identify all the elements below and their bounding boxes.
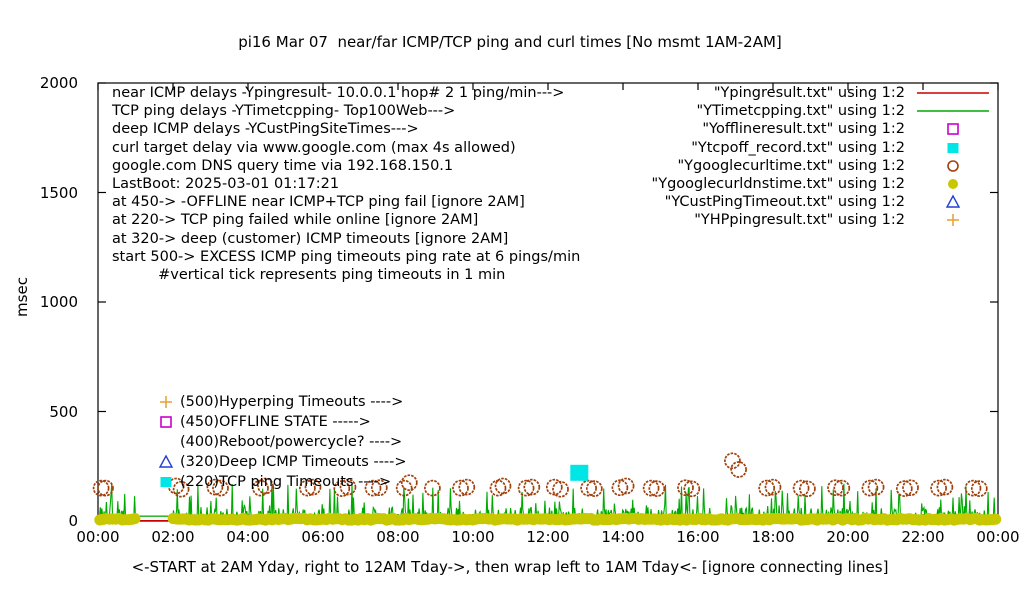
x-axis-caption: <-START at 2AM Yday, right to 12AM Tday-… (0, 558, 1020, 576)
tcp-timeout-marker (570, 465, 588, 481)
annotation-line: TCP ping delays -YTimetcpping- Top100Web… (112, 102, 580, 120)
annotation-line: at 320-> deep (customer) ICMP timeouts [… (112, 230, 580, 248)
inplot-symbol-open-square (155, 412, 177, 432)
annotation-notes: near ICMP delays -Ypingresult- 10.0.0.1 … (112, 84, 580, 284)
curl-time-point (581, 481, 596, 496)
legend-symbol-filled-circle (915, 175, 995, 193)
legend-labels: "Ypingresult.txt" using 1:2"YTimetcpping… (575, 84, 905, 230)
chart-page: pi16 Mar 07 near/far ICMP/TCP ping and c… (0, 0, 1020, 600)
annotation-line: near ICMP delays -Ypingresult- 10.0.0.1 … (112, 84, 580, 102)
legend-symbol-open-circle (915, 157, 995, 175)
inplot-legend-entry-label: (220)TCP ping Timeouts ----> (180, 472, 407, 492)
inplot-legend-entry-label: (400)Reboot/powercycle? ----> (180, 432, 407, 452)
inplot-symbol-filled-square (155, 472, 177, 492)
inplot-legend-entry-label: (450)OFFLINE STATE -----> (180, 412, 407, 432)
legend-entry-label: "YCustPingTimeout.txt" using 1:2 (575, 193, 905, 211)
legend-symbol-line (915, 102, 995, 120)
series-dns-query-time (94, 513, 1001, 526)
legend-symbol-open-triangle (915, 193, 995, 211)
annotation-line: curl target delay via www.google.com (ma… (112, 139, 580, 157)
inplot-legend-entry-label: (320)Deep ICMP Timeouts ----> (180, 452, 407, 472)
legend-symbol-open-square (915, 120, 995, 138)
legend-entry-label: "Ytcpoff_record.txt" using 1:2 (575, 139, 905, 157)
inplot-legend-labels: (500)Hyperping Timeouts ---->(450)OFFLIN… (180, 392, 407, 492)
legend-symbol-filled-square (915, 139, 995, 157)
series-tcp-off-record (570, 465, 588, 481)
curl-time-point (644, 481, 659, 496)
inplot-legend-entry-label: (500)Hyperping Timeouts ----> (180, 392, 407, 412)
legend-entry-label: "Yofflineresult.txt" using 1:2 (575, 120, 905, 138)
annotation-line: at 450-> -OFFLINE near ICMP+TCP ping fai… (112, 193, 580, 211)
curl-time-point (98, 481, 113, 496)
legend-entry-label: "Ygooglecurltime.txt" using 1:2 (575, 157, 905, 175)
annotation-line: #vertical tick represents ping timeouts … (112, 266, 580, 284)
legend-entry-label: "Ygooglecurldnstime.txt" using 1:2 (575, 175, 905, 193)
annotation-line: google.com DNS query time via 192.168.15… (112, 157, 580, 175)
legend-symbol-plus (915, 211, 995, 229)
legend-entry-label: "Ypingresult.txt" using 1:2 (575, 84, 905, 102)
legend-entry-label: "YTimetcpping.txt" using 1:2 (575, 102, 905, 120)
annotation-line: at 220-> TCP ping failed while online [i… (112, 211, 580, 229)
legend-symbol-line (915, 84, 995, 102)
annotation-line: LastBoot: 2025-03-01 01:17:21 (112, 175, 580, 193)
legend-entry-label: "YHPpingresult.txt" using 1:2 (575, 211, 905, 229)
curl-time-point (553, 482, 568, 497)
annotation-line: start 500-> EXCESS ICMP ping timeouts pi… (112, 248, 580, 266)
inplot-symbol-open-triangle (155, 452, 177, 472)
inplot-symbol-plus (155, 392, 177, 412)
annotation-line: deep ICMP delays -YCustPingSiteTimes---> (112, 120, 580, 138)
